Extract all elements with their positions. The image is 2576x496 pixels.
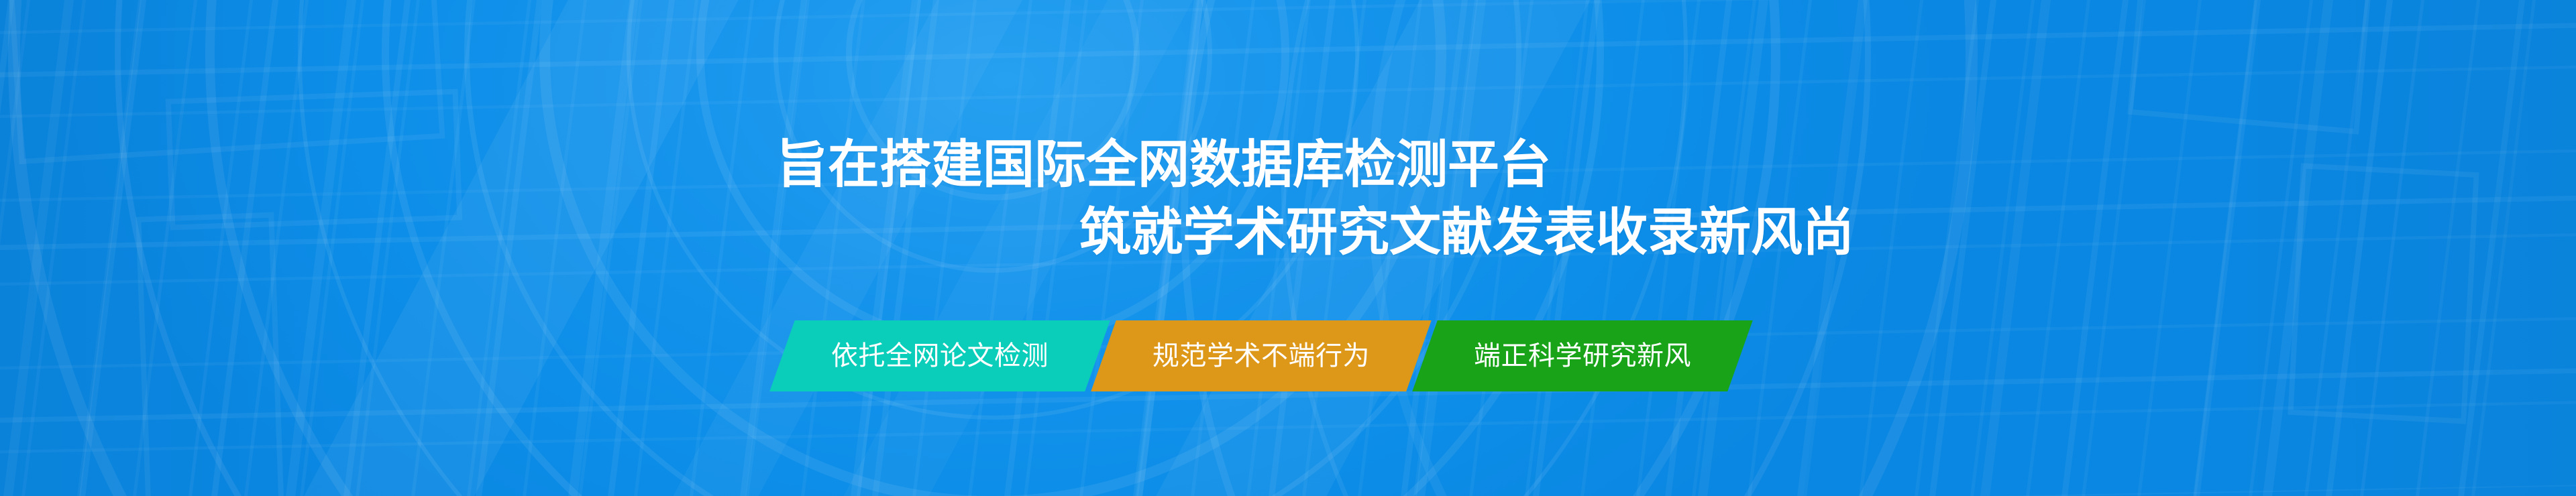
headline-block: 旨在搭建国际全网数据库检测平台 筑就学术研究文献发表收录新风尚 xyxy=(0,131,2576,267)
headline-line-1: 旨在搭建国际全网数据库检测平台 xyxy=(776,131,2576,199)
feature-badge-misconduct-label: 规范学术不端行为 xyxy=(1152,320,1370,391)
feature-badge-row: 依托全网论文检测 规范学术不端行为 端正科学研究新风 xyxy=(782,320,1740,391)
blueprint-rect-4 xyxy=(2127,0,2371,135)
feature-badge-detection[interactable]: 依托全网论文检测 xyxy=(769,320,1110,391)
headline-line-2: 筑就学术研究文献发表收录新风尚 xyxy=(1079,199,2576,267)
hero-banner: 旨在搭建国际全网数据库检测平台 筑就学术研究文献发表收录新风尚 依托全网论文检测… xyxy=(0,0,2576,496)
feature-badge-detection-label: 依托全网论文检测 xyxy=(831,320,1049,391)
feature-badge-misconduct[interactable]: 规范学术不端行为 xyxy=(1091,320,1432,391)
feature-badge-integrity[interactable]: 端正科学研究新风 xyxy=(1412,320,1753,391)
feature-badge-integrity-label: 端正科学研究新风 xyxy=(1474,320,1691,391)
